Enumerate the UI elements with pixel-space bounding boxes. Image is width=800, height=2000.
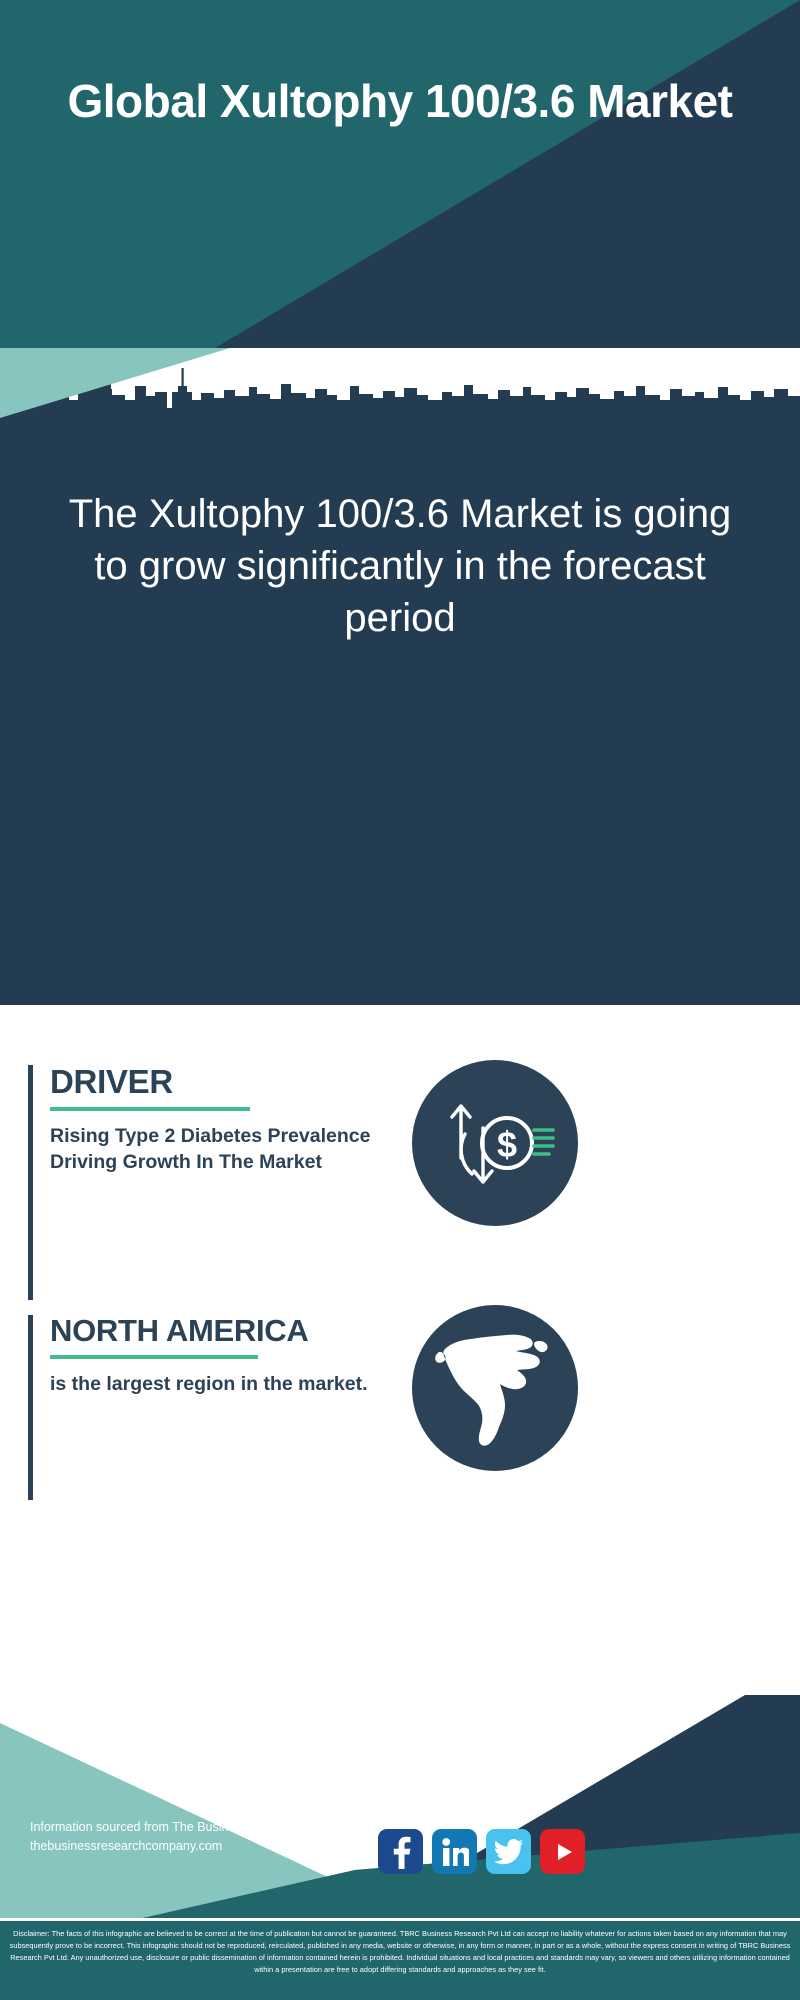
driver-underline [50,1107,250,1111]
youtube-icon[interactable] [540,1829,585,1874]
page-title: Global Xultophy 100/3.6 Market [0,74,800,128]
dollar-growth-arrows-icon: $ [435,1088,555,1198]
north-america-underline [50,1355,258,1359]
statement-band: The Xultophy 100/3.6 Market is going to … [0,348,800,1005]
source-attribution: Information sourced from The Business Re… [30,1818,362,1857]
disclaimer-separator [0,1918,800,1921]
twitter-icon[interactable] [486,1829,531,1874]
north-america-body-text: is the largest region in the market. [50,1372,428,1398]
linkedin-icon[interactable]: TM [432,1829,477,1874]
header-banner: Global Xultophy 100/3.6 Market [0,0,800,348]
disclaimer-text: Disclaimer: The facts of this infographi… [0,1925,800,1976]
infographic-root: Global Xultophy 100/3.6 Market [0,0,800,2000]
svg-text:TM: TM [468,1862,469,1867]
dollar-growth-icon-circle: $ [412,1060,578,1226]
source-line-1: Information sourced from The Business Re… [30,1818,362,1837]
driver-heading: DRIVER [50,1065,428,1098]
north-america-map-icon [431,1323,559,1453]
source-line-2[interactable]: thebusinessresearchcompany.com [30,1837,362,1856]
facebook-icon[interactable] [378,1829,423,1874]
driver-body-text: Rising Type 2 Diabetes Prevalence Drivin… [50,1124,428,1175]
north-america-accent-bar [28,1315,33,1500]
north-america-heading: NORTH AMERICA [50,1315,428,1346]
skyline-silhouette [0,348,800,1005]
social-links: TM [378,1829,585,1874]
north-america-icon-circle [412,1305,578,1471]
svg-text:$: $ [497,1124,517,1165]
statement-text: The Xultophy 100/3.6 Market is going to … [0,488,800,644]
driver-accent-bar [28,1065,33,1300]
header-diagonal-shape [0,0,800,348]
content-area: DRIVER Rising Type 2 Diabetes Prevalence… [0,1005,800,1695]
